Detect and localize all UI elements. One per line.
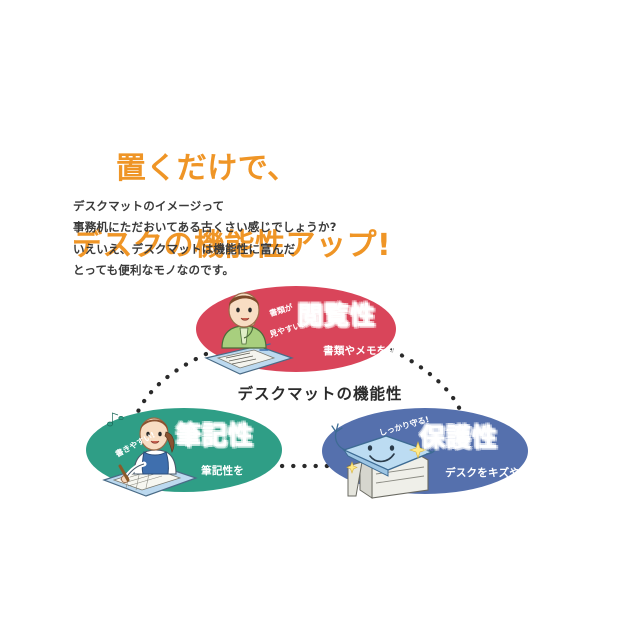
feature-desc-writability-line-2: サポートします! bbox=[201, 496, 281, 508]
feature-desc-protection-line-1: デスクをキズや bbox=[445, 467, 520, 479]
intro-line-3: いえいえ、デスクマットは機能性に富んだ bbox=[73, 239, 337, 260]
feature-desc-protection-line-2: 汚れから守る! bbox=[445, 498, 514, 510]
bubble-readability-line-1: 書類が bbox=[268, 303, 294, 319]
infographic-page: 置くだけで、 デスクの機能性アップ! デスクマットのイメージって 事務机にただお… bbox=[0, 0, 640, 640]
feature-diagram: 書類が 見やすい! 閲覧性 書類やメモを挟んで 探さずに見られる! bbox=[0, 276, 640, 526]
intro-paragraph: デスクマットのイメージって 事務机にただおいてある古くさい感じでしょうか? いえ… bbox=[73, 196, 337, 281]
feature-desc-readability-line-1: 書類やメモを挟んで bbox=[323, 345, 419, 357]
feature-title-writability: 筆記性 bbox=[176, 416, 254, 452]
diagram-center-label: デスクマットの機能性 bbox=[0, 382, 640, 404]
headline-line-1: 置くだけで、 bbox=[116, 151, 298, 186]
intro-line-2: 事務机にただおいてある古くさい感じでしょうか? bbox=[73, 217, 337, 238]
feature-desc-writability-line-1: 筆記性を bbox=[201, 465, 244, 477]
feature-desc-protection: デスクをキズや 汚れから守る! bbox=[422, 450, 520, 529]
feature-title-readability: 閲覧性 bbox=[298, 296, 376, 332]
intro-line-1: デスクマットのイメージって bbox=[73, 196, 337, 217]
feature-desc-writability: 筆記性を サポートします! bbox=[178, 448, 281, 527]
feature-title-protection: 保護性 bbox=[420, 418, 498, 454]
